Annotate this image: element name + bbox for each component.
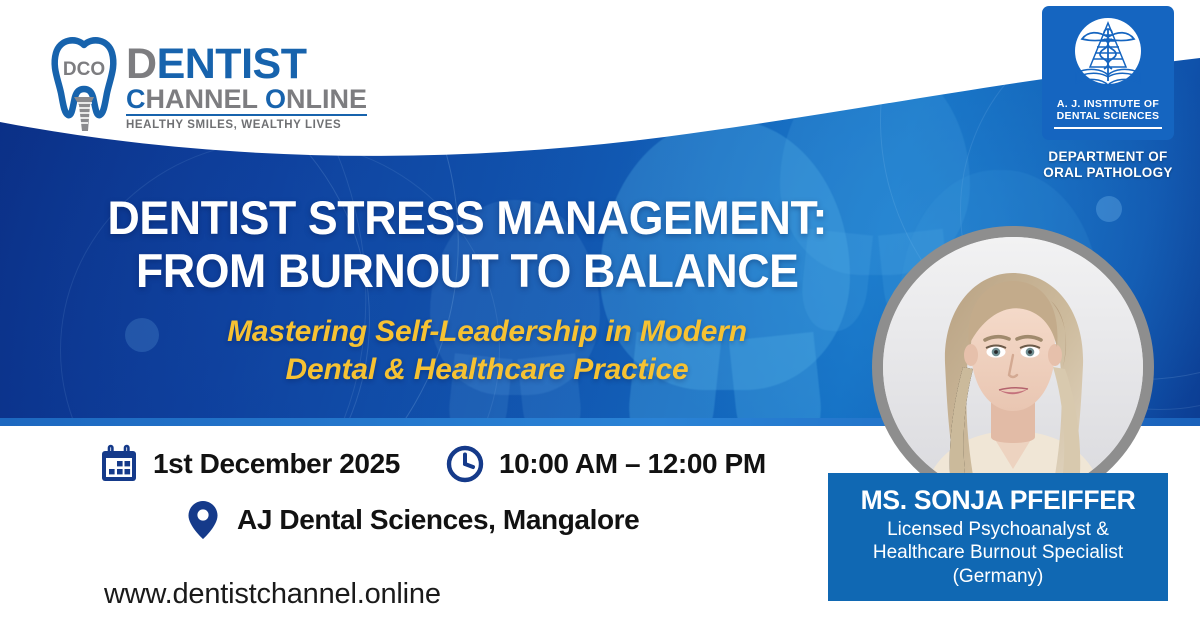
dco-wordmark: DENTIST CHANNEL ONLINE HEALTHY SMILES, W… bbox=[126, 39, 367, 131]
dco-dentist-rest: ENTIST bbox=[157, 40, 307, 88]
event-date-time-row: 1st December 2025 10:00 AM – 12:00 PM bbox=[98, 443, 798, 485]
dco-o-letter: O bbox=[265, 84, 286, 114]
svg-text:DCO: DCO bbox=[63, 59, 105, 80]
event-title-line2: FROM BURNOUT TO BALANCE bbox=[92, 245, 843, 298]
aj-institute-card: A. J. INSTITUTE OF DENTAL SCIENCES bbox=[1042, 6, 1174, 140]
event-date-text: 1st December 2025 bbox=[153, 448, 400, 480]
event-time-text: 10:00 AM – 12:00 PM bbox=[499, 448, 766, 480]
aj-name-line1: A. J. INSTITUTE OF bbox=[1057, 98, 1160, 110]
dco-tooth-logo-icon: DCO bbox=[48, 35, 120, 135]
event-subtitle-line2: Dental & Healthcare Practice bbox=[92, 351, 882, 389]
event-venue-item: AJ Dental Sciences, Mangalore bbox=[182, 497, 639, 543]
aj-caduceus-pyramid-emblem-icon bbox=[1060, 11, 1156, 97]
dco-c-letter: C bbox=[126, 84, 146, 114]
event-time-item: 10:00 AM – 12:00 PM bbox=[444, 443, 766, 485]
event-venue-text: AJ Dental Sciences, Mangalore bbox=[237, 504, 639, 536]
speaker-role-line1: Licensed Psychoanalyst & bbox=[873, 518, 1123, 541]
speaker-name: MS. SONJA PFEIFFER bbox=[861, 486, 1136, 515]
speaker-info-card: MS. SONJA PFEIFFER Licensed Psychoanalys… bbox=[828, 473, 1168, 601]
aj-dept-line2: ORAL PATHOLOGY bbox=[1034, 165, 1182, 181]
dco-name-dentist: DENTIST bbox=[126, 43, 367, 85]
aj-name-line2: DENTAL SCIENCES bbox=[1057, 110, 1160, 122]
aj-institute-name: A. J. INSTITUTE OF DENTAL SCIENCES bbox=[1057, 98, 1160, 123]
website-url[interactable]: www.dentistchannel.online bbox=[104, 578, 441, 611]
dco-channel-rest: HANNEL bbox=[146, 84, 266, 114]
aj-dept-line1: DEPARTMENT OF bbox=[1034, 149, 1182, 165]
event-title: DENTIST STRESS MANAGEMENT: FROM BURNOUT … bbox=[92, 192, 843, 297]
event-promo-banner: DCO DENTIST CHANNEL ONLINE HEALTHY SMILE… bbox=[0, 0, 1200, 630]
event-subtitle: Mastering Self-Leadership in Modern Dent… bbox=[92, 313, 882, 389]
dco-tagline: HEALTHY SMILES, WEALTHY LIVES bbox=[126, 119, 367, 131]
decorative-dot bbox=[1096, 196, 1122, 222]
event-details-block: 1st December 2025 10:00 AM – 12:00 PM bbox=[98, 443, 798, 543]
aj-logo-rule bbox=[1054, 127, 1162, 129]
speaker-role-line3: (Germany) bbox=[873, 565, 1123, 588]
event-date-item: 1st December 2025 bbox=[98, 443, 400, 485]
speaker-photo bbox=[872, 226, 1154, 508]
aj-department-label: DEPARTMENT OF ORAL PATHOLOGY bbox=[1034, 149, 1182, 181]
event-title-line1: DENTIST STRESS MANAGEMENT: bbox=[92, 192, 843, 245]
speaker-portrait-illustration bbox=[883, 237, 1143, 497]
dco-name-channel-online: CHANNEL ONLINE bbox=[126, 85, 367, 116]
map-pin-icon bbox=[182, 497, 224, 543]
event-headline-block: DENTIST STRESS MANAGEMENT: FROM BURNOUT … bbox=[92, 192, 882, 389]
dco-online-rest: NLINE bbox=[286, 84, 367, 114]
clock-icon bbox=[444, 443, 486, 485]
event-subtitle-line1: Mastering Self-Leadership in Modern bbox=[92, 313, 882, 351]
calendar-icon bbox=[98, 443, 140, 485]
speaker-role: Licensed Psychoanalyst & Healthcare Burn… bbox=[873, 518, 1123, 588]
dco-d-letter: D bbox=[126, 40, 157, 88]
aj-institute-logo-block: A. J. INSTITUTE OF DENTAL SCIENCES DEPAR… bbox=[1034, 6, 1182, 181]
dco-brand-logo: DCO DENTIST CHANNEL ONLINE HEALTHY SMILE… bbox=[48, 34, 323, 136]
event-venue-row: AJ Dental Sciences, Mangalore bbox=[98, 497, 798, 543]
speaker-role-line2: Healthcare Burnout Specialist bbox=[873, 541, 1123, 564]
